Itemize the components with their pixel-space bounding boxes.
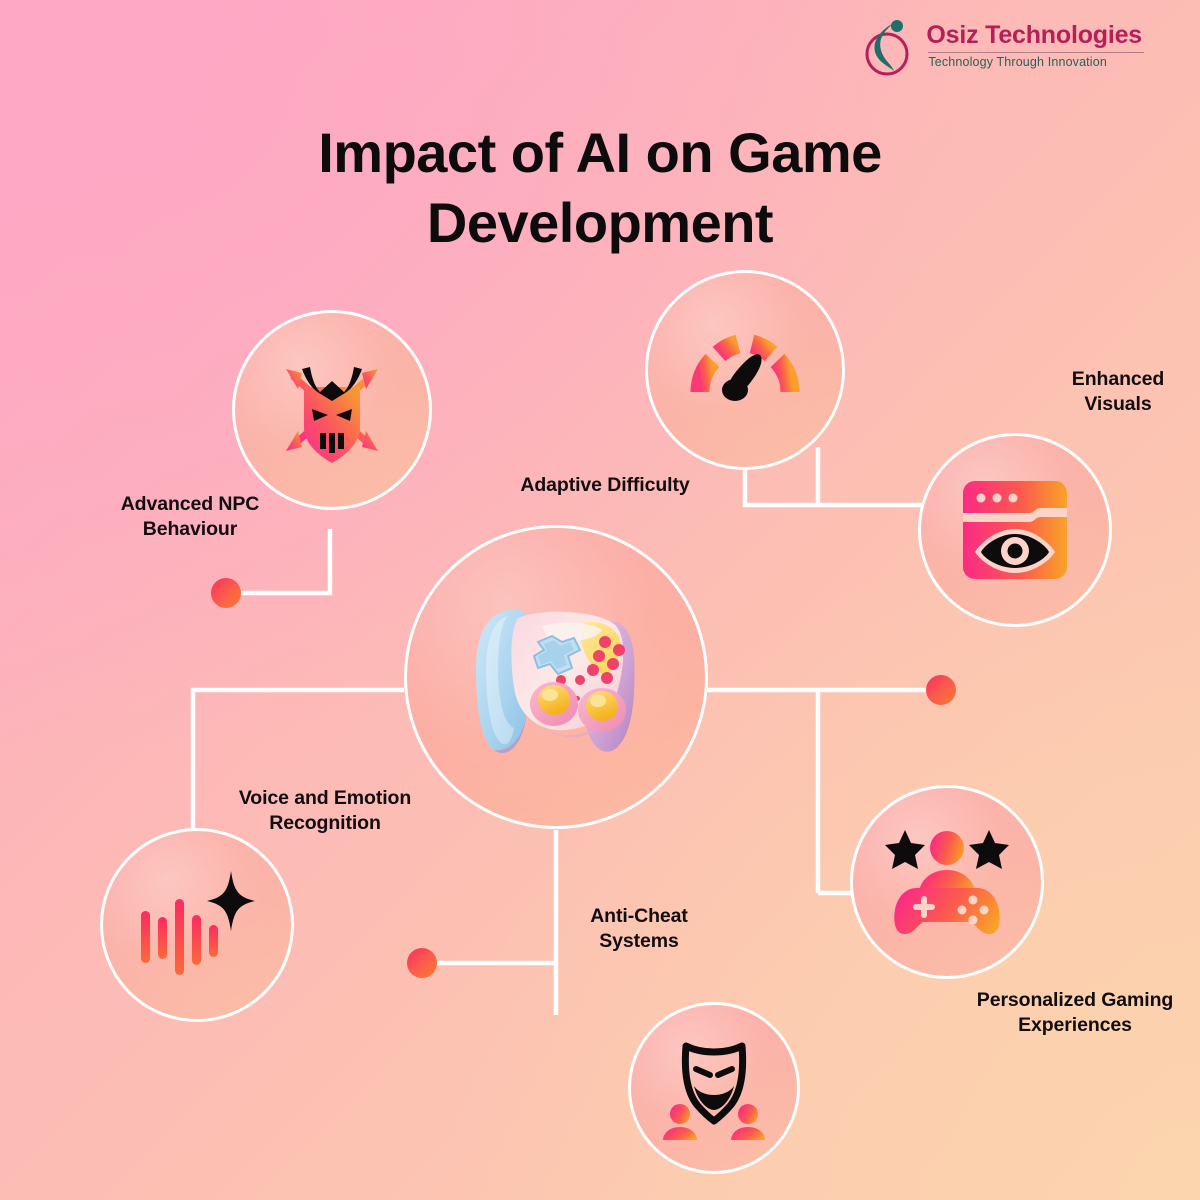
- game-controller-icon: [456, 592, 656, 762]
- node-anti-cheat-systems[interactable]: [628, 1002, 800, 1174]
- page-title: Impact of AI on Game Development: [0, 118, 1200, 258]
- waveform-sparkle-icon: [139, 871, 255, 979]
- connector-dot-anticheat: [407, 948, 437, 978]
- browser-eye-icon: [959, 477, 1071, 583]
- infographic-canvas: Osiz Technologies Technology Through Inn…: [0, 0, 1200, 1200]
- logo-brand-text: Osiz Technologies: [926, 23, 1142, 48]
- label-adaptive-difficulty: Adaptive Difficulty: [470, 473, 740, 498]
- label-voice-and-emotion-recognition: Voice and Emotion Recognition: [205, 786, 445, 836]
- label-advanced-npc-behaviour: Advanced NPC Behaviour: [85, 492, 295, 542]
- label-enhanced-visuals: Enhanced Visuals: [1038, 367, 1198, 417]
- speedometer-gauge-icon: [688, 320, 802, 420]
- node-advanced-npc-behaviour[interactable]: [232, 310, 432, 510]
- logo-divider: [928, 52, 1144, 53]
- logo-tagline-text: Technology Through Innovation: [926, 56, 1142, 69]
- osiz-logo[interactable]: Osiz Technologies Technology Through Inn…: [864, 14, 1142, 78]
- label-personalized-gaming-experiences: Personalized Gaming Experiences: [955, 988, 1195, 1038]
- connector-dot-visuals: [926, 675, 956, 705]
- node-adaptive-difficulty[interactable]: [645, 270, 845, 470]
- node-voice-and-emotion-recognition[interactable]: [100, 828, 294, 1022]
- node-center-game-controller[interactable]: [404, 525, 708, 829]
- label-anti-cheat-systems: Anti-Cheat Systems: [534, 904, 744, 954]
- mask-users-icon: [658, 1036, 770, 1140]
- connector-dot-npc: [211, 578, 241, 608]
- demon-skull-icon: [272, 351, 392, 469]
- osiz-figure-icon: [864, 14, 916, 78]
- node-personalized-gaming-experiences[interactable]: [850, 785, 1044, 979]
- player-stars-gamepad-icon: [885, 826, 1009, 938]
- node-enhanced-visuals[interactable]: [918, 433, 1112, 627]
